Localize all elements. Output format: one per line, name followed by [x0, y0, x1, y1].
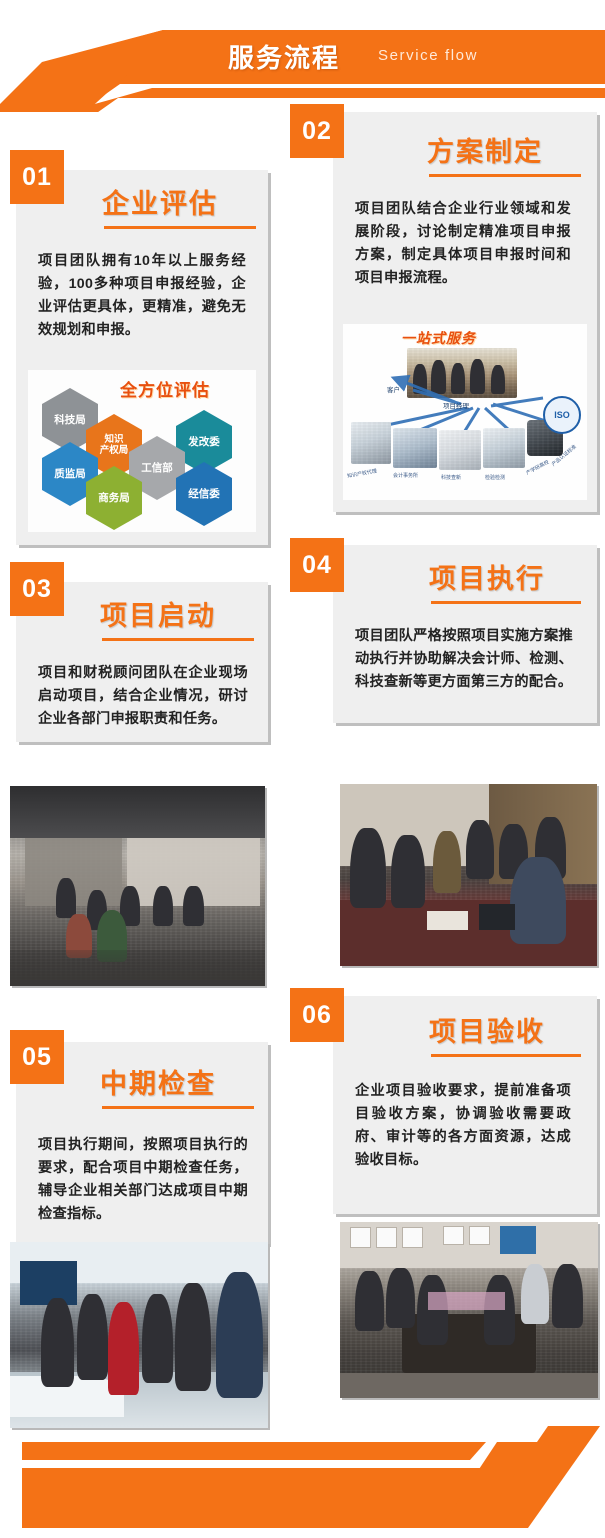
card-title-03: 项目启动: [100, 594, 216, 633]
step-photo-06: [340, 1222, 598, 1398]
footer-banner-shape: [0, 1416, 605, 1538]
title-rule-02: [429, 174, 581, 177]
card-body-01: 项目团队拥有10年以上服务经验，100多种项目申报经验，企业评估更具体，更精准，…: [38, 250, 246, 342]
one-stop-service-diagram: 一站式服务: [343, 324, 587, 500]
title-rule-04: [431, 601, 581, 604]
step-photo-03: [10, 786, 265, 986]
branch-photo-ip: [351, 422, 391, 464]
title-rule-06: [431, 1054, 581, 1057]
card-title-01: 企业评估: [102, 182, 218, 221]
page-title: 服务流程: [228, 38, 340, 75]
title-rule-03: [102, 638, 254, 641]
title-rule-01: [104, 226, 256, 229]
iso-badge-icon: ISO: [543, 396, 581, 434]
branch-label-testing: 检验检测: [485, 474, 505, 481]
branch-photo-accounting: [393, 428, 437, 468]
step-badge-06: 06: [290, 988, 344, 1042]
card-title-02: 方案制定: [427, 130, 543, 169]
step-card-06[interactable]: 项目验收 企业项目验收要求，提前准备项目验收方案，协调验收需要政府、审计等的各方…: [333, 996, 597, 1214]
card-title-05: 中期检查: [100, 1062, 216, 1101]
step-photo-04: [340, 784, 597, 966]
branch-photo-novelty: [439, 430, 481, 470]
branch-label-novelty: 科技查新: [441, 474, 461, 481]
title-rule-05: [102, 1106, 254, 1109]
step-card-02[interactable]: 方案制定 项目团队结合企业行业领域和发展阶段，讨论制定精准项目申报方案，制定具体…: [333, 112, 597, 512]
card-body-02: 项目团队结合企业行业领域和发展阶段，讨论制定精准项目申报方案，制定具体项目申报时…: [355, 198, 571, 290]
hex-diagram-title: 全方位评估: [120, 376, 210, 401]
service-flow-infographic: 服务流程 Service flow 企业评估 项目团队拥有10年以上服务经验，1…: [0, 0, 605, 1538]
step-badge-05: 05: [10, 1030, 64, 1084]
card-title-04: 项目执行: [429, 557, 545, 596]
page-footer: 全国统一热线： 400-150-1560: [0, 1416, 605, 1538]
page-header: 服务流程 Service flow: [0, 0, 605, 112]
branch-photo-testing: [483, 428, 525, 468]
branch-label-accounting: 会计事务所: [393, 472, 418, 479]
one-stop-node-manager: 项目经理: [443, 400, 469, 410]
step-badge-03: 03: [10, 562, 64, 616]
card-body-03: 项目和财税顾问团队在企业现场启动项目，结合企业情况，研讨企业各部门申报职责和任务…: [38, 662, 248, 731]
step-badge-04: 04: [290, 538, 344, 592]
step-photo-05: [10, 1242, 268, 1428]
card-body-05: 项目执行期间，按照项目执行的要求，配合项目中期检查任务，辅导企业相关部门达成项目…: [38, 1134, 248, 1226]
step-card-04[interactable]: 项目执行 项目团队严格按照项目实施方案推动执行并协助解决会计师、检测、科技查新等…: [333, 545, 597, 723]
assessment-hex-diagram: 全方位评估 科技局 知识 产权局 发改委 质监局 工信部 商务局 经信委: [28, 370, 256, 532]
step-badge-01: 01: [10, 150, 64, 204]
card-title-06: 项目验收: [429, 1010, 545, 1049]
step-badge-02: 02: [290, 104, 344, 158]
one-stop-node-customer: 客户: [387, 384, 400, 394]
page-subtitle: Service flow: [378, 47, 478, 64]
card-body-04: 项目团队严格按照项目实施方案推动执行并协助解决会计师、检测、科技查新等更方面第三…: [355, 625, 573, 694]
step-card-01[interactable]: 企业评估 项目团队拥有10年以上服务经验，100多种项目申报经验，企业评估更具体…: [16, 170, 268, 545]
card-body-06: 企业项目验收要求，提前准备项目验收方案，协调验收需要政府、审计等的各方面资源，达…: [355, 1080, 571, 1172]
